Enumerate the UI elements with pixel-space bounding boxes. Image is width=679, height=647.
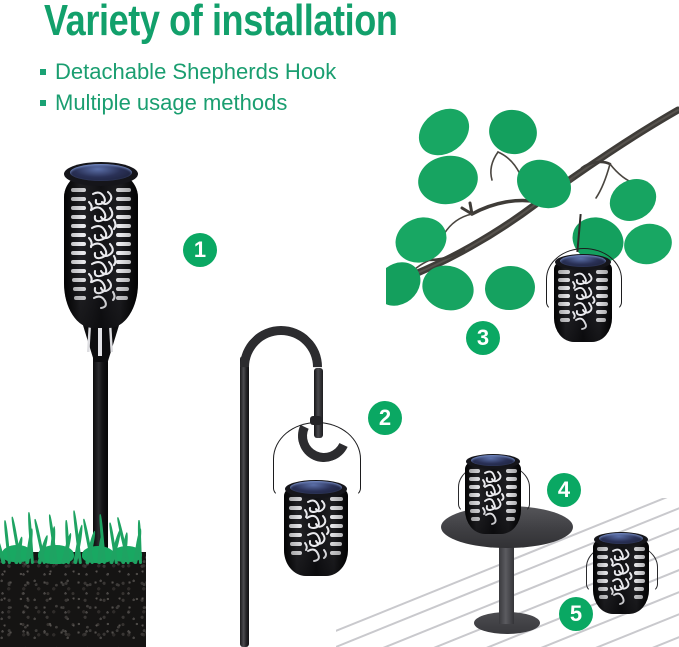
table-stem xyxy=(499,536,514,624)
infographic-canvas: Variety of installation Detachable Sheph… xyxy=(0,0,679,647)
step-badge-3[interactable]: 3 xyxy=(466,321,500,355)
step-badge-number: 1 xyxy=(194,239,206,261)
shell-shadow xyxy=(465,460,521,534)
hook-post xyxy=(240,356,249,647)
solar-panel xyxy=(471,455,515,466)
torch-lamp-head xyxy=(56,160,146,370)
branch-svg xyxy=(386,92,679,332)
step-badge-number: 2 xyxy=(379,407,391,429)
shell-shadow xyxy=(554,260,612,342)
handle-knot xyxy=(310,416,322,425)
lantern-shell xyxy=(554,260,612,342)
step-badge-4[interactable]: 4 xyxy=(547,473,581,507)
lantern-barrel xyxy=(554,252,612,342)
solar-panel xyxy=(560,255,606,267)
step-badge-5[interactable]: 5 xyxy=(559,597,593,631)
shell-shadow xyxy=(64,168,138,328)
lawn-ground xyxy=(0,498,146,647)
solar-panel xyxy=(599,533,643,544)
bullet-text: Detachable Shepherds Hook xyxy=(55,56,336,87)
grass-layer xyxy=(0,498,146,564)
solar-panel xyxy=(70,164,132,181)
lantern-shell xyxy=(465,460,521,534)
soil-layer xyxy=(0,552,146,647)
bullet-text: Multiple usage methods xyxy=(55,87,287,118)
square-bullet-icon xyxy=(40,69,46,75)
lantern-shell xyxy=(593,538,649,614)
step-badge-number: 3 xyxy=(477,327,489,349)
lantern-barrel xyxy=(590,528,652,614)
step-badge-number: 5 xyxy=(570,603,582,625)
torch-skirt-vent xyxy=(98,326,102,356)
lantern-barrel xyxy=(462,450,524,534)
solar-panel xyxy=(290,481,342,494)
shell-shadow xyxy=(593,538,649,614)
lantern-shell xyxy=(64,168,138,328)
step-badge-1[interactable]: 1 xyxy=(183,233,217,267)
step-badge-2[interactable]: 2 xyxy=(368,401,402,435)
tree-branch-group xyxy=(386,92,679,332)
page-title: Variety of installation xyxy=(44,0,397,44)
list-item: Detachable Shepherds Hook xyxy=(40,56,460,87)
step-badge-number: 4 xyxy=(558,479,570,501)
square-bullet-icon xyxy=(40,100,46,106)
